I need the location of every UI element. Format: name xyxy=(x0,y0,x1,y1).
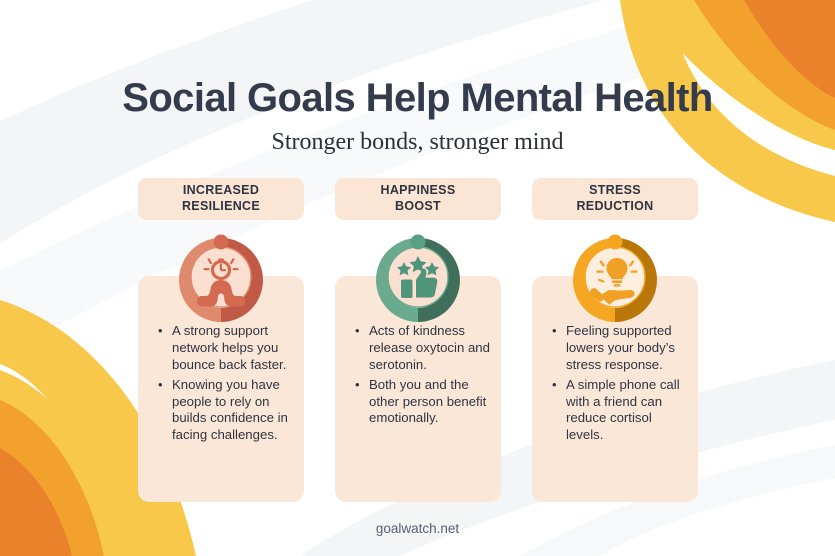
list-item: A strong support network helps you bounc… xyxy=(170,323,296,374)
column-happiness-boost: HAPPINESS BOOST xyxy=(335,178,501,508)
heading-line-1: INCREASED xyxy=(183,183,259,197)
bullet-list: Acts of kindness release oxytocin and se… xyxy=(351,323,493,430)
list-item: A simple phone call with a friend can re… xyxy=(564,377,690,445)
page-title: Social Goals Help Mental Health xyxy=(0,76,835,121)
strong-arms-clock-icon xyxy=(171,230,271,330)
list-item: Knowing you have people to rely on build… xyxy=(170,377,296,445)
heading-line-1: HAPPINESS xyxy=(381,183,456,197)
heading-line-2: REDUCTION xyxy=(576,199,653,213)
heading-line-2: RESILIENCE xyxy=(182,199,260,213)
column-stress-reduction: STRESS REDUCTION xyxy=(532,178,698,508)
list-item: Feeling supported lowers your body’s str… xyxy=(564,323,690,374)
infographic-canvas: Social Goals Help Mental Health Stronger… xyxy=(0,0,835,556)
column-heading-pill: STRESS REDUCTION xyxy=(532,178,698,220)
bullet-list: A strong support network helps you bounc… xyxy=(154,323,296,447)
columns-container: INCREASED RESILIENCE xyxy=(138,178,698,508)
list-item: Both you and the other person benefit em… xyxy=(367,377,493,428)
heading-line-2: BOOST xyxy=(395,199,441,213)
footer-site-label: goalwatch.net xyxy=(0,521,835,536)
thumbs-up-stars-icon xyxy=(368,230,468,330)
list-item: Acts of kindness release oxytocin and se… xyxy=(367,323,493,374)
page-subtitle: Stronger bonds, stronger mind xyxy=(0,129,835,156)
column-heading-pill: INCREASED RESILIENCE xyxy=(138,178,304,220)
column-increased-resilience: INCREASED RESILIENCE xyxy=(138,178,304,508)
bullet-list: Feeling supported lowers your body’s str… xyxy=(548,323,690,447)
hand-lightbulb-icon xyxy=(565,230,665,330)
column-heading-pill: HAPPINESS BOOST xyxy=(335,178,501,220)
heading-line-1: STRESS xyxy=(589,183,641,197)
